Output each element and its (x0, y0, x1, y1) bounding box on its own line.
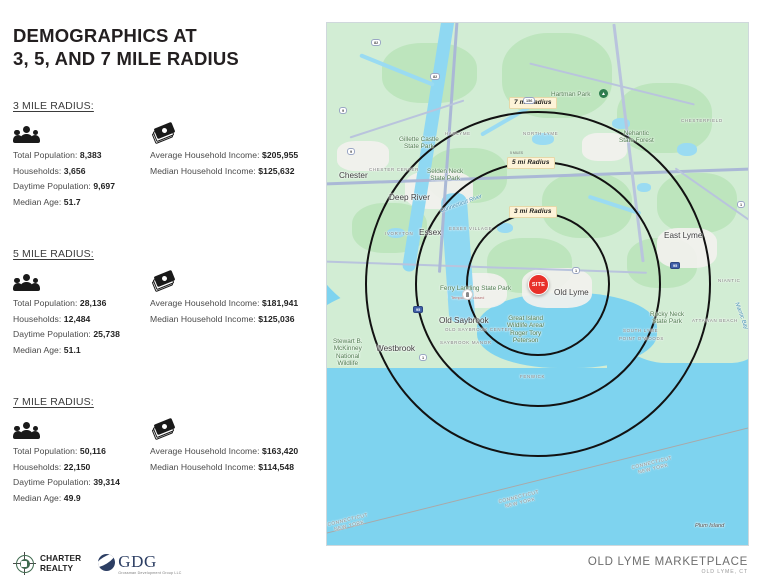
route-shield-9b: 9 (347, 148, 355, 155)
stat-daytime-population: Daytime Population: 25,738 (13, 327, 120, 343)
stat-value: 49.9 (64, 493, 81, 503)
charter-realty-wordmark: CHARTER REALTY (40, 554, 81, 573)
people-icon (13, 422, 39, 439)
route-shield-156: 156 (523, 97, 535, 104)
stat-value: $205,955 (262, 150, 298, 160)
map-urban-area (337, 141, 389, 171)
income-stats-column: Average Household Income: $163,420 Media… (150, 417, 298, 475)
charter-realty-logo: CHARTER REALTY (13, 552, 81, 575)
stat-total-population: Total Population: 50,116 (13, 444, 120, 460)
stat-average-household-income: Average Household Income: $181,941 (150, 296, 298, 312)
stat-median-age: Median Age: 49.9 (13, 491, 120, 507)
stat-value: 12,484 (64, 314, 91, 324)
population-stats-column: Total Population: 28,136 Households: 12,… (13, 269, 120, 358)
stat-value: $114,548 (258, 462, 294, 472)
people-icon (13, 274, 39, 291)
footer-project-name: OLD LYME MARKETPLACE (588, 556, 748, 568)
stats-columns: Total Population: 8,383 Households: 3,65… (13, 121, 323, 207)
charter-line-2: REALTY (40, 563, 73, 573)
stat-value: 51.1 (64, 345, 81, 355)
money-icon (150, 271, 176, 291)
page-title-line1: DEMOGRAPHICS AT (13, 24, 313, 47)
gdg-subtitle: Grossman Development Group LLC (118, 571, 181, 575)
gdg-name: GDG (118, 553, 181, 570)
route-shield-1: 1 (419, 354, 427, 361)
left-info-panel: DEMOGRAPHICS AT 3, 5, AND 7 MILE RADIUS … (0, 0, 326, 588)
money-icon-row (150, 417, 298, 439)
map-label-state-border: CONNECTICUT NEW YORK (631, 456, 674, 477)
money-icon (150, 419, 176, 439)
stat-total-population: Total Population: 28,136 (13, 296, 120, 312)
stat-value: 3,656 (64, 166, 86, 176)
gdg-wordmark: GDG Grossman Development Group LLC (118, 553, 181, 575)
stat-daytime-population: Daytime Population: 39,314 (13, 475, 120, 491)
charter-compass-icon (13, 552, 36, 575)
radius-section-7-mile: 7 MILE RADIUS: Total Population: 50,116 … (13, 396, 323, 503)
footer-project-city: OLD LYME, CT (588, 569, 748, 575)
stat-value: $125,036 (258, 314, 294, 324)
stat-value: 50,116 (80, 446, 106, 456)
gdg-swoosh-icon (98, 554, 115, 571)
stat-value: 25,738 (93, 329, 120, 339)
route-shield-9: 9 (339, 107, 347, 114)
ferry-landing-pin[interactable] (462, 289, 473, 300)
radius-heading-3-mile: 3 MILE RADIUS: (13, 100, 323, 112)
stat-median-age: Median Age: 51.7 (13, 195, 115, 211)
stat-median-household-income: Median Household Income: $125,036 (150, 312, 298, 328)
people-icon-row (13, 269, 120, 291)
stat-value: 39,314 (93, 477, 120, 487)
stat-average-household-income: Average Household Income: $163,420 (150, 444, 298, 460)
stat-total-population: Total Population: 8,383 (13, 148, 115, 164)
radius-map[interactable]: 7 mi Radius 5 MILES 5 mi Radius 3 mi Rad… (326, 22, 749, 546)
population-stats-column: Total Population: 50,116 Households: 22,… (13, 417, 120, 506)
stat-value: $181,941 (262, 298, 298, 308)
stat-value: 51.7 (64, 197, 81, 207)
park-marker-icon: ▲ (599, 89, 608, 98)
income-stats-column: Average Household Income: $205,955 Media… (150, 121, 298, 179)
money-icon-row (150, 269, 298, 291)
stat-value: 28,136 (80, 298, 107, 308)
route-shield-1b: 1 (572, 267, 580, 274)
stat-median-age: Median Age: 51.1 (13, 343, 120, 359)
radius-label-5-mile: 5 mi Radius (507, 157, 555, 169)
stat-households: Households: 22,150 (13, 460, 120, 476)
map-pond (677, 143, 697, 156)
money-icon-row (150, 121, 298, 143)
population-stats-column: Total Population: 8,383 Households: 3,65… (13, 121, 115, 210)
footer-project-info: OLD LYME MARKETPLACE OLD LYME, CT (588, 556, 748, 576)
radius-heading-7-mile: 7 MILE RADIUS: (13, 396, 323, 408)
stat-value: 22,150 (64, 462, 91, 472)
route-shield-east: 1 (737, 201, 745, 208)
stat-value: $125,632 (258, 166, 294, 176)
stats-columns: Total Population: 50,116 Households: 22,… (13, 417, 323, 503)
map-label-state-border: CONNECTICUT NEW YORK (498, 490, 541, 511)
gdg-logo: GDG Grossman Development Group LLC (98, 553, 181, 575)
stat-median-household-income: Median Household Income: $125,632 (150, 164, 298, 180)
stat-value: $163,420 (262, 446, 298, 456)
stat-value: 9,697 (93, 181, 115, 191)
site-marker[interactable]: SITE (528, 274, 549, 295)
map-label-plum-island: Plum Island (695, 523, 724, 529)
stat-average-household-income: Average Household Income: $205,955 (150, 148, 298, 164)
route-shield-i95: 95 (413, 306, 423, 313)
radius-label-3-mile: 3 mi Radius (509, 206, 557, 218)
route-shield-82: 82 (371, 39, 381, 46)
radius-section-3-mile: 3 MILE RADIUS: Total Population: 8,383 H… (13, 100, 323, 207)
page-title-line2: 3, 5, AND 7 MILE RADIUS (13, 47, 313, 70)
route-shield-82b: 82 (430, 73, 440, 80)
stat-households: Households: 12,484 (13, 312, 120, 328)
radius-sublabel-5-mile: 5 MILES (510, 151, 523, 155)
page-title: DEMOGRAPHICS AT 3, 5, AND 7 MILE RADIUS (13, 24, 313, 71)
radius-section-5-mile: 5 MILE RADIUS: Total Population: 28,136 … (13, 248, 323, 355)
stats-columns: Total Population: 28,136 Households: 12,… (13, 269, 323, 355)
stat-households: Households: 3,656 (13, 164, 115, 180)
stat-median-household-income: Median Household Income: $114,548 (150, 460, 298, 476)
money-icon (150, 123, 176, 143)
route-shield-i95b: 95 (670, 262, 680, 269)
income-stats-column: Average Household Income: $181,941 Media… (150, 269, 298, 327)
map-canvas[interactable]: 7 mi Radius 5 MILES 5 mi Radius 3 mi Rad… (327, 23, 748, 545)
footer-logos: CHARTER REALTY GDG Grossman Development … (13, 552, 182, 575)
radius-heading-5-mile: 5 MILE RADIUS: (13, 248, 323, 260)
stat-daytime-population: Daytime Population: 9,697 (13, 179, 115, 195)
people-icon-row (13, 417, 120, 439)
people-icon-row (13, 121, 115, 143)
people-icon (13, 126, 39, 143)
stat-value: 8,383 (80, 150, 102, 160)
